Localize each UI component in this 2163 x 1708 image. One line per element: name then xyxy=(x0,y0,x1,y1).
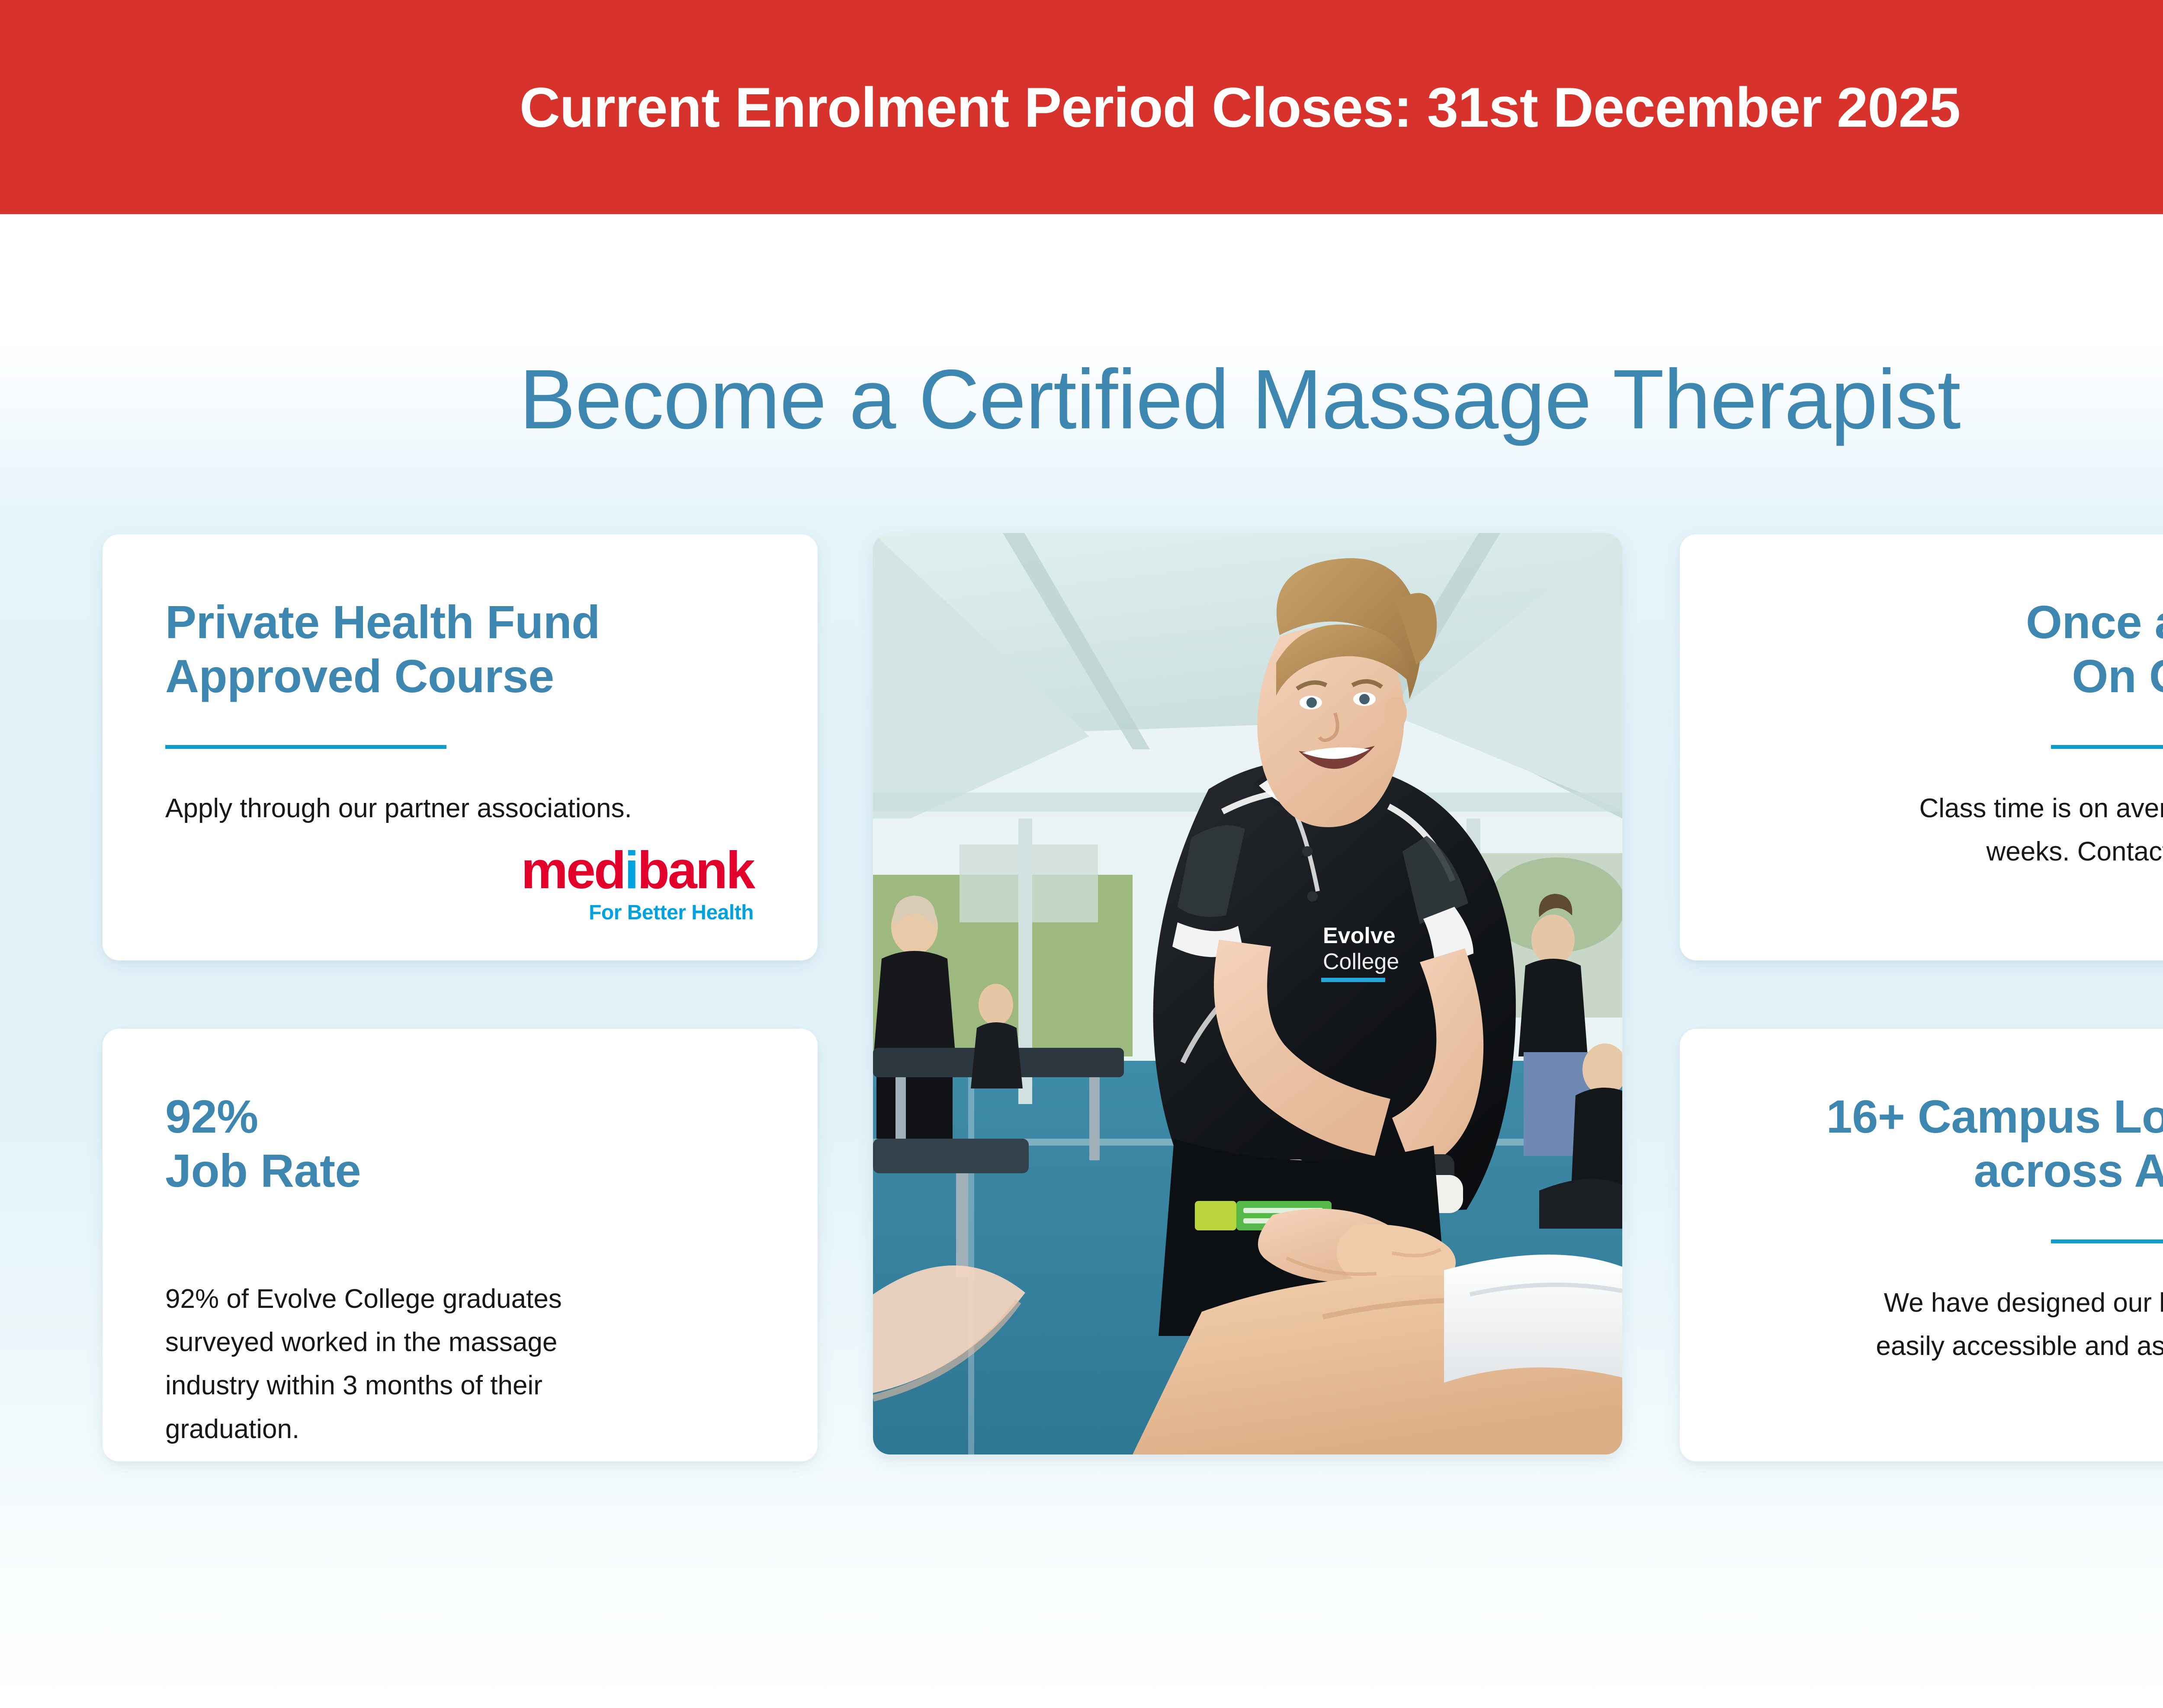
card-body-campus-locations: We have designed our locations to be eas… xyxy=(1865,1281,2163,1412)
card-divider-campus-locations xyxy=(2051,1239,2163,1243)
medibank-wordmark-i-glyph: i xyxy=(624,841,637,899)
card-divider-private-health-fund xyxy=(165,745,446,749)
card-private-health-fund: Private Health Fund Approved Course Appl… xyxy=(103,534,818,960)
svg-text:Evolve: Evolve xyxy=(1323,923,1396,948)
card-campus-locations: 16+ Campus Locations across Australia We… xyxy=(1680,1029,2163,1461)
svg-text:College: College xyxy=(1323,949,1399,974)
medibank-tagline: For Better Health xyxy=(521,902,754,923)
card-once-a-month-on-campus: Once a Month On Campus Class time is on … xyxy=(1680,534,2163,960)
card-title-private-health-fund: Private Health Fund Approved Course xyxy=(165,595,600,703)
card-title-job-rate: 92% Job Rate xyxy=(165,1089,361,1198)
card-job-rate: 92% Job Rate 92% of Evolve College gradu… xyxy=(103,1029,818,1461)
card-body-private-health-fund: Apply through our partner associations. xyxy=(165,787,632,830)
medibank-logo: medibank For Better Health xyxy=(521,844,754,923)
card-title-campus-locations: 16+ Campus Locations across Australia xyxy=(1826,1089,2163,1198)
card-title-once-a-month-on-campus: Once a Month On Campus xyxy=(2026,595,2163,703)
massage-student-photo: Evolve College xyxy=(873,533,1622,1454)
page-title: Become a Certified Massage Therapist xyxy=(0,353,2163,446)
medibank-wordmark: medibank xyxy=(521,844,754,896)
medibank-wordmark-part-1: med xyxy=(521,841,624,899)
card-body-once-a-month-on-campus: Class time is on average every 3-4 weeks… xyxy=(1865,787,2163,917)
massage-student-photo-illustration: Evolve College xyxy=(873,533,1622,1454)
medibank-wordmark-part-2: bank xyxy=(637,841,754,899)
card-divider-once-a-month-on-campus xyxy=(2051,745,2163,749)
enrolment-announcement-bar: Current Enrolment Period Closes: 31st De… xyxy=(0,0,2163,214)
card-body-job-rate: 92% of Evolve College graduates surveyed… xyxy=(165,1278,632,1451)
enrolment-announcement-text: Current Enrolment Period Closes: 31st De… xyxy=(520,79,1960,135)
